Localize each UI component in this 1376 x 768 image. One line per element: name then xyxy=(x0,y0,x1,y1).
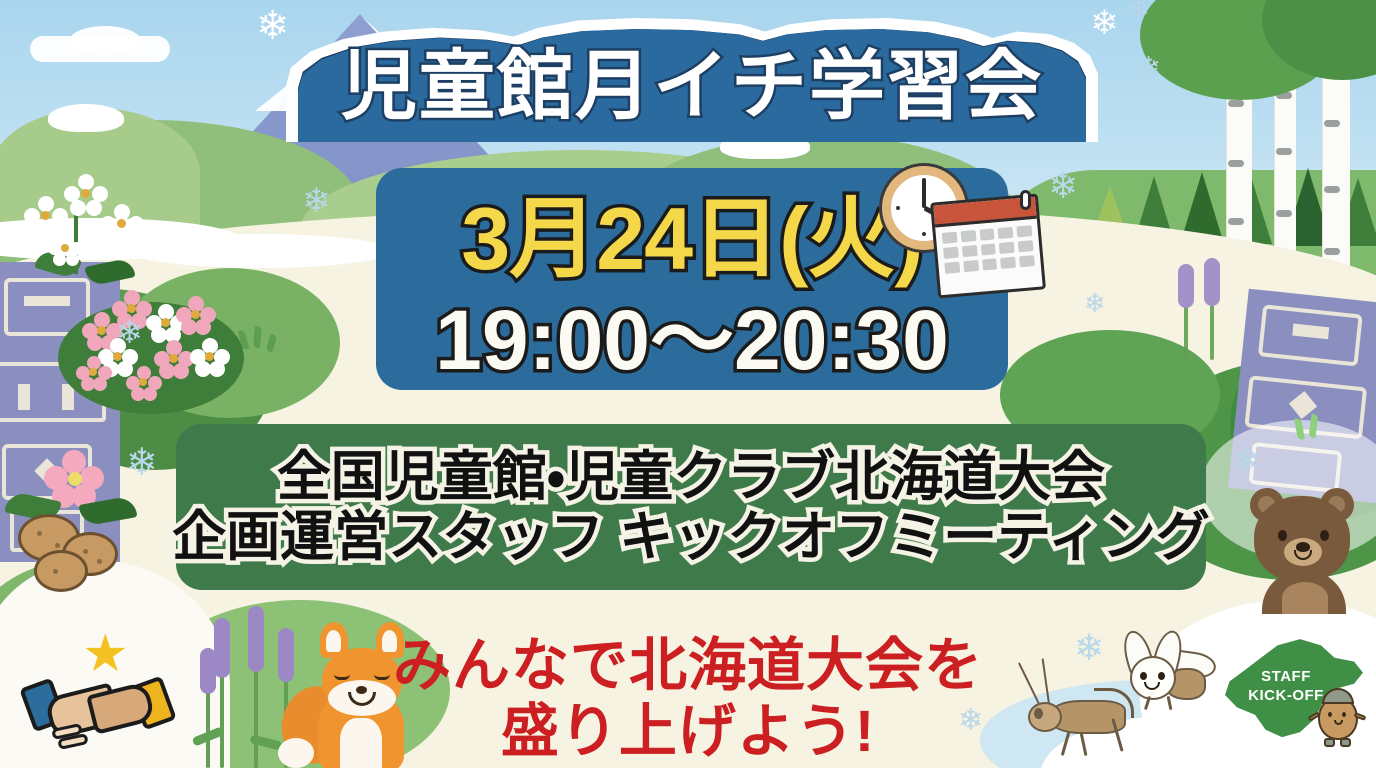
green-subtitle-banner: 全国児童館・児童クラブ北海道大会 企画運営スタッフ キックオフミーティング xyxy=(176,424,1206,590)
clock-minute-hand xyxy=(922,178,926,208)
calendar-icon xyxy=(930,193,1046,298)
bear-eye xyxy=(1320,530,1329,541)
potato-illustration xyxy=(18,496,158,580)
cloud-icon xyxy=(70,26,140,54)
title-banner: 児童館月イチ学習会 xyxy=(286,18,1098,142)
white-flower xyxy=(190,338,230,378)
white-flower xyxy=(100,204,144,248)
white-flower xyxy=(48,232,84,268)
lavender-illustration xyxy=(1168,260,1238,360)
event-time: 19:00～20:30 xyxy=(376,284,1008,382)
staff-label-line-1: STAFF xyxy=(1216,668,1356,687)
pink-flower-cluster xyxy=(58,282,248,412)
page-title: 児童館月イチ学習会 xyxy=(286,18,1098,142)
pink-flower xyxy=(126,366,162,402)
snowflake-icon: ❄ xyxy=(116,316,143,348)
green-banner-line-1: 全国児童館・児童クラブ北海道大会 xyxy=(277,448,1105,506)
snowflake-icon: ❄ xyxy=(256,6,290,46)
white-flower-cluster xyxy=(20,170,180,300)
potato-mascot xyxy=(1312,686,1364,750)
snowflake-icon: ❄ xyxy=(1232,444,1261,478)
snowflake-icon: ❄ xyxy=(302,184,331,218)
bear-eye xyxy=(1278,530,1287,541)
bear-illustration xyxy=(1244,486,1362,606)
pink-flower xyxy=(76,356,112,392)
mascot-leg xyxy=(1324,738,1335,747)
poster-canvas: ★ xyxy=(0,0,1376,768)
call-to-action-line-2: 盛り上げよう! xyxy=(0,684,1376,768)
mascot-cap xyxy=(1322,688,1354,704)
calendar-grid xyxy=(935,219,1041,275)
snowflake-icon: ❄ xyxy=(1048,168,1078,204)
pink-flower xyxy=(176,296,216,336)
snowflake-icon: ❄ xyxy=(1128,0,1150,22)
snowflake-icon: ❄ xyxy=(1136,54,1161,84)
mascot-leg xyxy=(1340,738,1351,747)
date-icons-cluster xyxy=(878,166,1048,296)
bear-chest xyxy=(1282,582,1328,614)
mascot-eye xyxy=(1328,712,1332,717)
hokkaido-staff-badge: STAFF KICK-OFF xyxy=(1216,628,1366,752)
green-banner-line-2: 企画運営スタッフ キックオフミーティング xyxy=(172,508,1210,566)
calendar-ring xyxy=(1020,190,1031,210)
snowflake-icon: ❄ xyxy=(1084,290,1106,316)
mascot-eye xyxy=(1342,712,1346,717)
snowflake-icon: ❄ xyxy=(126,444,158,482)
